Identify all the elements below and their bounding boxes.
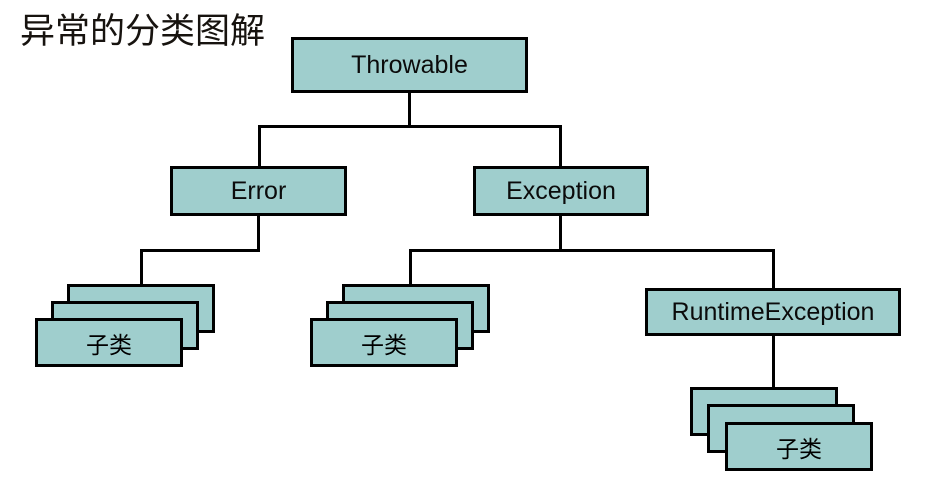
stack-runtime-subclasses-label: 子类 — [776, 430, 822, 464]
connector-exception-to-runtimeexception — [772, 249, 775, 289]
node-throwable[interactable]: Throwable — [291, 37, 528, 93]
connector-error-bus — [140, 249, 260, 252]
stack-error-subclasses[interactable]: 子类 — [35, 284, 215, 367]
stack-sheet-front[interactable]: 子类 — [35, 318, 183, 367]
connector-runtimeexception-to-subclasses — [772, 336, 775, 388]
connector-exception-bus — [409, 249, 775, 252]
diagram-canvas: 异常的分类图解 Throwable Error Exception 子类 子类 — [0, 0, 927, 503]
node-throwable-label: Throwable — [351, 53, 468, 78]
node-runtimeexception-label: RuntimeException — [672, 300, 875, 325]
page-title: 异常的分类图解 — [20, 12, 265, 52]
node-exception-label: Exception — [506, 179, 616, 204]
connector-exception-to-subclasses — [409, 249, 412, 285]
stack-runtime-subclasses[interactable]: 子类 — [690, 387, 875, 472]
connector-error-to-subclasses — [140, 249, 143, 285]
node-error-label: Error — [231, 179, 287, 204]
connector-error-stem — [257, 216, 260, 252]
node-exception[interactable]: Exception — [473, 166, 649, 216]
stack-sheet-front[interactable]: 子类 — [725, 422, 873, 471]
node-error[interactable]: Error — [170, 166, 347, 216]
connector-throwable-to-error — [258, 125, 261, 167]
stack-checked-subclasses-label: 子类 — [361, 326, 407, 360]
connector-throwable-to-exception — [559, 125, 562, 167]
connector-throwable-bus — [258, 125, 562, 128]
node-runtimeexception[interactable]: RuntimeException — [645, 288, 901, 336]
connector-exception-stem — [559, 216, 562, 252]
stack-sheet-front[interactable]: 子类 — [310, 318, 458, 367]
stack-checked-subclasses[interactable]: 子类 — [310, 284, 490, 367]
connector-throwable-stem — [408, 93, 411, 128]
stack-error-subclasses-label: 子类 — [86, 326, 132, 360]
